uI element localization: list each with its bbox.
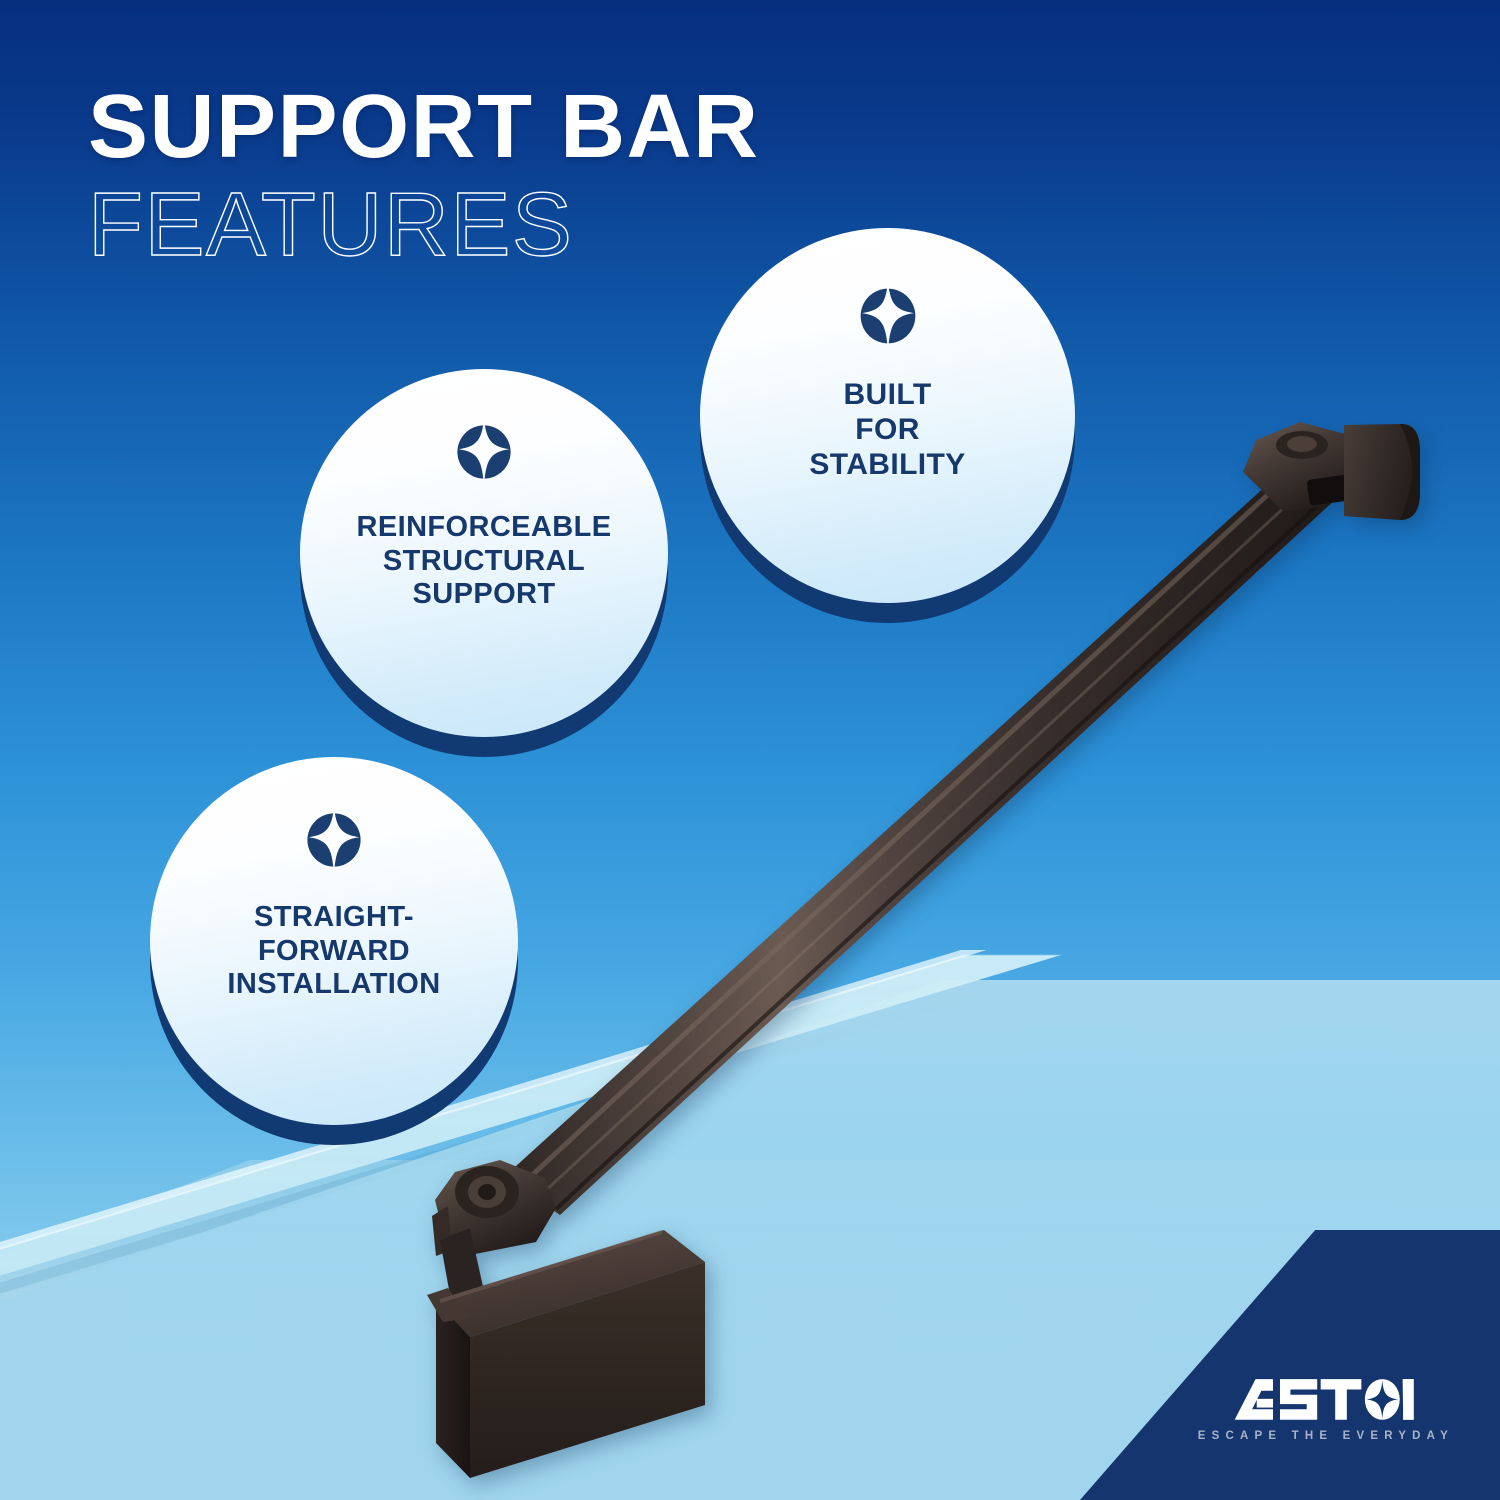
feature-badge-label-install: STRAIGHT- FORWARD INSTALLATION	[227, 901, 440, 1002]
feature-badge-label-reinforce: REINFORCEABLE STRUCTURAL SUPPORT	[357, 511, 612, 612]
infographic-canvas: SUPPORT BAR FEATURES BUILT FOR STABILITY	[0, 0, 1500, 1500]
four-point-star-icon	[299, 805, 369, 875]
four-point-star-icon	[852, 280, 924, 352]
feature-badge-label-stability: BUILT FOR STABILITY	[809, 378, 965, 482]
wall-flange	[1344, 424, 1420, 520]
aston-logo[interactable]: ESCAPE THE EVERYDAY	[1198, 1373, 1448, 1442]
feature-badge-reinforce[interactable]: REINFORCEABLE STRUCTURAL SUPPORT	[300, 369, 668, 737]
aston-wordmark	[1198, 1373, 1448, 1427]
aston-tagline: ESCAPE THE EVERYDAY	[1198, 1430, 1454, 1442]
feature-badge-stability[interactable]: BUILT FOR STABILITY	[700, 228, 1075, 603]
support-bar-product-image	[0, 0, 1500, 1500]
four-point-star-icon	[449, 417, 519, 487]
feature-badge-install[interactable]: STRAIGHT- FORWARD INSTALLATION	[150, 757, 518, 1125]
